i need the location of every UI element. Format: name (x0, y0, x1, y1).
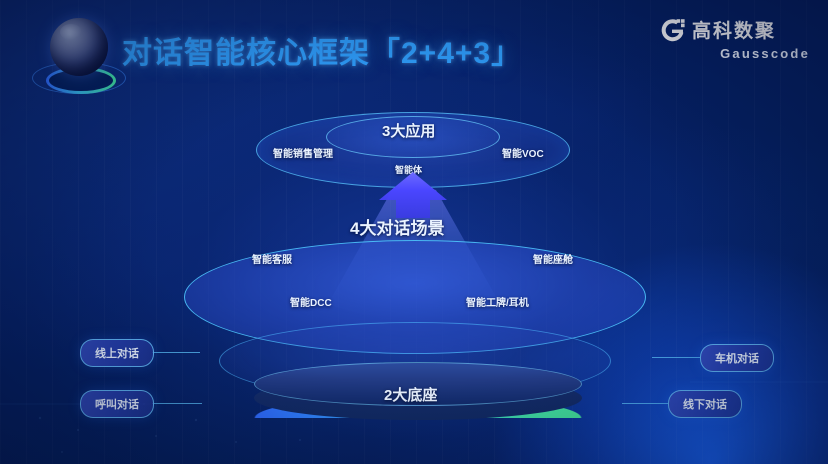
brand-logo: 高科数聚 Gausscode (660, 18, 810, 66)
connector-line-call (152, 403, 202, 404)
connector-line-offline (622, 403, 668, 404)
layer-middle-item-dcc: 智能DCC (290, 294, 332, 309)
sphere-orb-icon (26, 14, 126, 102)
pill-offline-dialogue[interactable]: 线下对话 (668, 390, 742, 418)
layer-bottom-heading: 2大底座 (384, 384, 437, 405)
upward-arrow-icon (378, 172, 448, 218)
framework-diagram: 3大应用 智能销售管理 智能VOC 智能体 4大对话场景 智能客服 智能座舱 智… (0, 96, 828, 464)
brand-name-cn: 高科数聚 (692, 22, 776, 41)
layer-middle-item-kefu: 智能客服 (252, 251, 292, 266)
slide-header: 对话智能核心框架「2+4+3」 高科数聚 Gausscode (0, 0, 828, 100)
pill-online-dialogue[interactable]: 线上对话 (80, 339, 154, 367)
layer-middle-item-cockpit: 智能座舱 (533, 251, 573, 266)
layer-middle-heading: 4大对话场景 (350, 214, 444, 239)
orb-highlight-icon (60, 24, 82, 40)
brand-name-en: Gausscode (660, 47, 810, 60)
pill-car-dialogue[interactable]: 车机对话 (700, 344, 774, 372)
layer-top-item-voc: 智能VOC (502, 145, 544, 160)
layer-middle-item-badge-headset: 智能工牌/耳机 (466, 294, 529, 309)
layer-top-heading: 3大应用 (382, 120, 435, 141)
connector-line-car (652, 357, 700, 358)
slide-canvas: 对话智能核心框架「2+4+3」 高科数聚 Gausscode (0, 0, 828, 464)
connector-line-online (152, 352, 200, 353)
pill-call-dialogue[interactable]: 呼叫对话 (80, 390, 154, 418)
layer-top-item-sales: 智能销售管理 (273, 145, 333, 160)
page-title: 对话智能核心框架「2+4+3」 (122, 28, 522, 72)
gausscode-g-mark-icon (660, 18, 686, 44)
